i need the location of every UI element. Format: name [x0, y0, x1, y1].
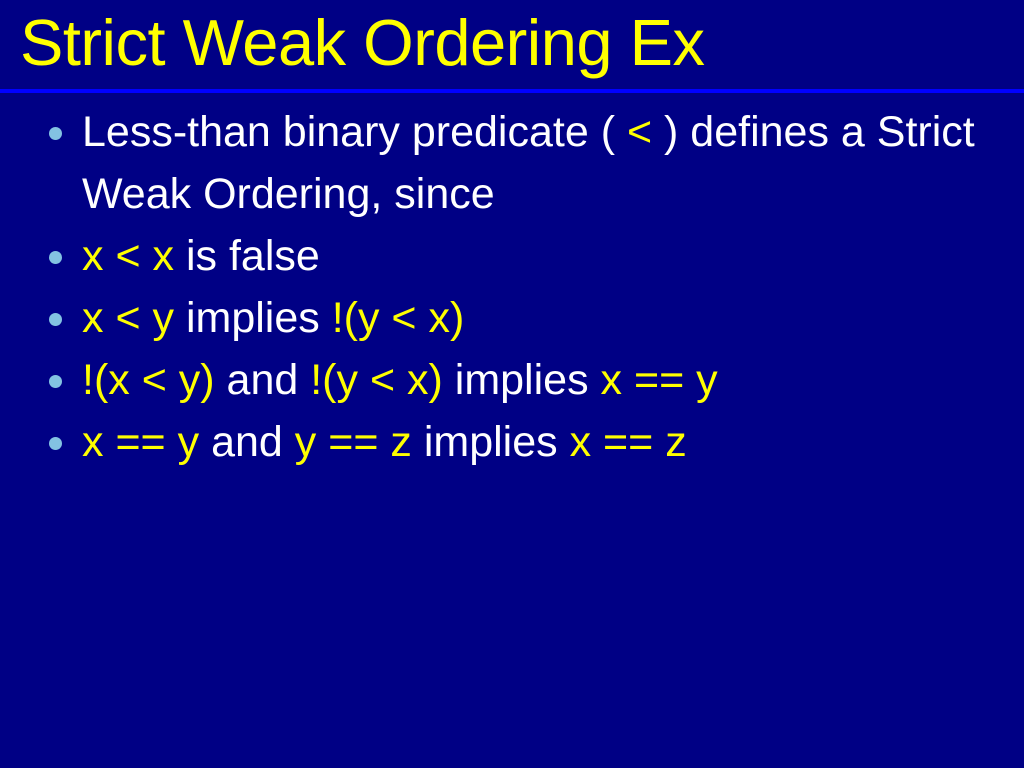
bullet-list-item: Less-than binary predicate ( < ) defines… — [0, 101, 1024, 225]
title-divider-rule — [0, 89, 1024, 93]
bullet-list-item: x == y and y == z implies x == z — [0, 411, 1024, 473]
bullet-text-segment: x < y — [82, 294, 174, 342]
presentation-slide: Strict Weak Ordering Ex Less-than binary… — [0, 0, 1024, 768]
bullet-text-segment: x == y — [82, 418, 199, 466]
bullet-text-segment: y == z — [295, 418, 412, 466]
bullet-text-segment: !(x < y) — [82, 356, 215, 404]
bullet-text-segment: x == y — [601, 356, 718, 404]
bullet-list-item: x < y implies !(y < x) — [0, 287, 1024, 349]
bullet-text-segment: implies — [412, 418, 570, 466]
bullet-text-segment: < — [627, 108, 652, 156]
bullet-text-segment: implies — [443, 356, 601, 404]
bullet-point-icon — [49, 375, 62, 388]
bullet-point-icon — [49, 437, 62, 450]
slide-body: Less-than binary predicate ( < ) defines… — [0, 101, 1024, 473]
bullet-text-segment: is false — [174, 232, 320, 280]
bullet-item-text: x < y implies !(y < x) — [82, 287, 1024, 349]
bullet-text-segment: x == z — [570, 418, 687, 466]
page-title: Strict Weak Ordering Ex — [20, 3, 704, 83]
bullet-text-segment: implies — [174, 294, 332, 342]
bullet-list-item: !(x < y) and !(y < x) implies x == y — [0, 349, 1024, 411]
bullet-point-icon — [49, 251, 62, 264]
bullet-item-text: x < x is false — [82, 225, 1024, 287]
bullet-point-icon — [49, 127, 62, 140]
bullet-item-text: !(x < y) and !(y < x) implies x == y — [82, 349, 1024, 411]
bullet-text-segment: x < x — [82, 232, 174, 280]
bullet-list-item: x < x is false — [0, 225, 1024, 287]
slide-title-area: Strict Weak Ordering Ex — [0, 0, 1024, 89]
bullet-text-segment: !(y < x) — [332, 294, 465, 342]
bullet-item-text: Less-than binary predicate ( < ) defines… — [82, 101, 987, 225]
bullet-text-segment: Less-than binary predicate ( — [82, 108, 627, 156]
bullet-item-text: x == y and y == z implies x == z — [82, 411, 1024, 473]
bullet-text-segment: and — [199, 418, 295, 466]
bullet-text-segment: and — [215, 356, 311, 404]
bullet-point-icon — [49, 313, 62, 326]
bullet-text-segment: !(y < x) — [310, 356, 443, 404]
